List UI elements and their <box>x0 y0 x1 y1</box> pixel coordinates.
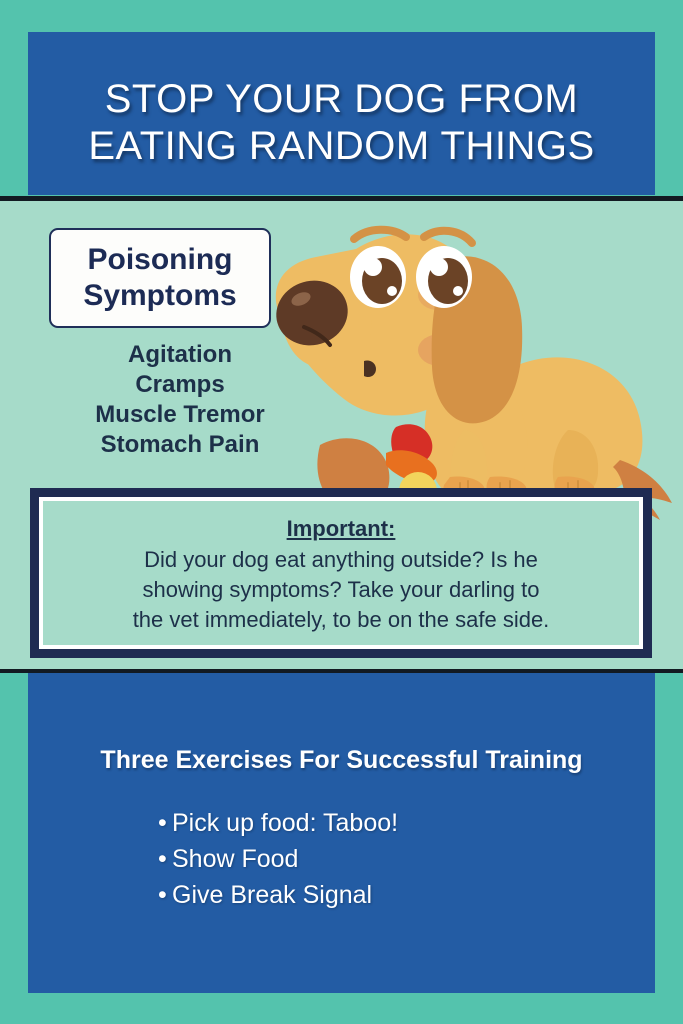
training-list: •Pick up food: Taboo! •Show Food •Give B… <box>158 805 398 913</box>
important-callout-box: Important: Did your dog eat anything out… <box>30 488 652 658</box>
list-item: Agitation <box>35 340 325 370</box>
list-item: Muscle Tremor <box>35 400 325 430</box>
list-item: Cramps <box>35 370 325 400</box>
list-item-label: Pick up food: Taboo! <box>172 809 398 837</box>
bullet-icon: • <box>158 841 172 877</box>
list-item-label: Show Food <box>172 845 298 873</box>
training-heading: Three Exercises For Successful Training <box>28 745 655 775</box>
infographic-poster: STOP YOUR DOG FROM EATING RANDOM THINGS … <box>0 0 683 1024</box>
important-body-text: Did your dog eat anything outside? Is he… <box>61 545 621 635</box>
header-band: STOP YOUR DOG FROM EATING RANDOM THINGS <box>28 32 655 195</box>
poisoning-symptoms-title: Poisoning Symptoms <box>83 242 236 314</box>
page-title: STOP YOUR DOG FROM EATING RANDOM THINGS <box>28 76 655 170</box>
important-label: Important: <box>287 515 396 543</box>
list-item: Stomach Pain <box>35 430 325 460</box>
list-item: •Pick up food: Taboo! <box>158 805 398 841</box>
bullet-icon: • <box>158 877 172 913</box>
list-item-label: Give Break Signal <box>172 881 372 909</box>
training-section: Three Exercises For Successful Training … <box>28 673 655 993</box>
important-callout-inner: Important: Did your dog eat anything out… <box>43 501 639 645</box>
symptoms-list: Agitation Cramps Muscle Tremor Stomach P… <box>35 340 325 460</box>
list-item: •Show Food <box>158 841 398 877</box>
poisoning-symptoms-card: Poisoning Symptoms <box>49 228 271 328</box>
list-item: •Give Break Signal <box>158 877 398 913</box>
bullet-icon: • <box>158 805 172 841</box>
